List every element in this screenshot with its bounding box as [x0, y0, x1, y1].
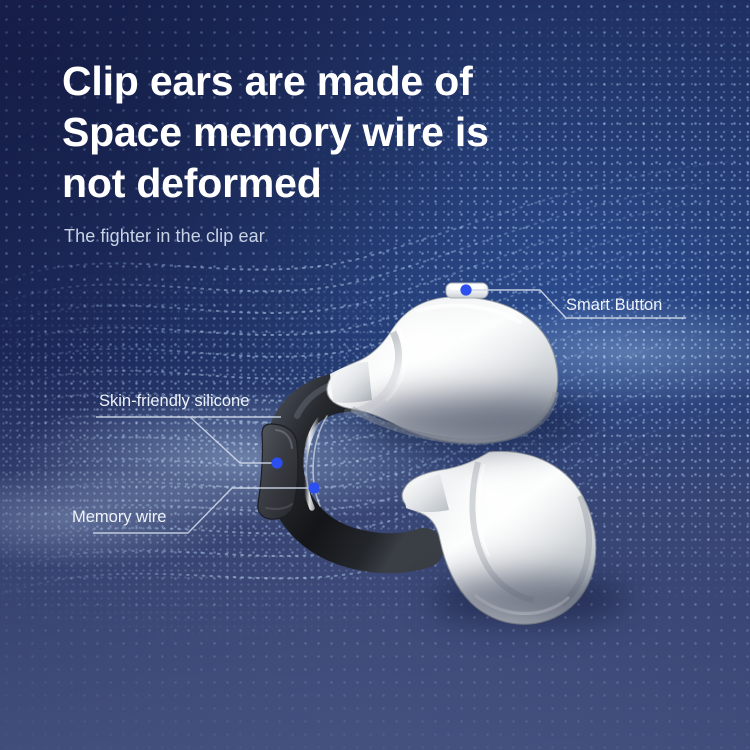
- smart-button: [446, 283, 488, 298]
- earbud-illustration: [0, 0, 750, 750]
- callout-label-memory-wire: Memory wire: [72, 508, 166, 527]
- product-image: [0, 0, 750, 750]
- product-banner: Clip ears are made of Space memory wire …: [0, 0, 750, 750]
- upper-pod-shadow: [360, 395, 590, 447]
- lower-pod-shadow: [430, 575, 630, 623]
- callout-label-skin-friendly: Skin-friendly silicone: [99, 392, 249, 411]
- skin-friendly-silicone-pad: [258, 424, 298, 519]
- callout-label-smart-button: Smart Button: [566, 296, 662, 315]
